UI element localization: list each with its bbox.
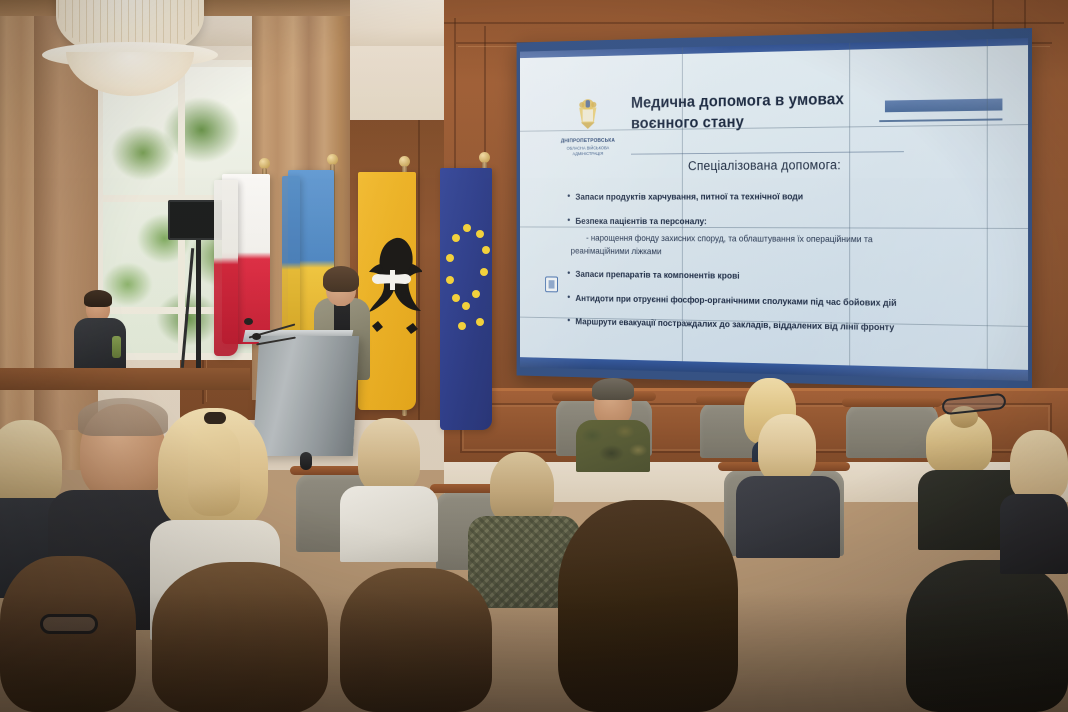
slide-top-bar <box>520 38 1028 58</box>
silesian-eagle-icon <box>366 230 422 360</box>
bullet-text: Запаси препаратів та компонентів крові <box>575 268 739 282</box>
podium <box>253 336 359 456</box>
info-badge-icon <box>545 276 558 292</box>
title-divider <box>631 151 904 154</box>
org-line-1: ДНІПРОПЕТРОВСЬКА <box>555 138 620 146</box>
organization-logo: ДНІПРОПЕТРОВСЬКА ОБЛАСНА ВІЙСЬКОВА АДМІН… <box>555 96 620 158</box>
bullet-text: Запаси продуктів харчування, питної та т… <box>575 191 803 203</box>
org-line-3: АДМІНІСТРАЦІЯ <box>555 151 620 158</box>
video-wall[interactable]: ДНІПРОПЕТРОВСЬКА ОБЛАСНА ВІЙСЬКОВА АДМІН… <box>517 28 1032 390</box>
translation-earpiece-icon <box>300 452 312 470</box>
slide-subtitle: Спеціалізована допомога: <box>520 156 1028 174</box>
list-item: • Запаси продуктів харчування, питної та… <box>552 190 1006 203</box>
bullet-marker: • <box>552 215 570 227</box>
panel-seam <box>849 43 850 376</box>
eu-stars-icon <box>442 176 492 426</box>
bullet-subtext: реанімаційними ліжками <box>552 245 1006 261</box>
water-bottle <box>112 336 121 358</box>
slide-title-line-2: воєнного стану <box>631 110 913 135</box>
slide-surface: ДНІПРОПЕТРОВСЬКА ОБЛАСНА ВІЙСЬКОВА АДМІН… <box>520 38 1028 381</box>
hair-tie <box>204 412 226 424</box>
conference-hall-photo: ДНІПРОПЕТРОВСЬКА ОБЛАСНА ВІЙСЬКОВА АДМІН… <box>0 0 1068 712</box>
slide-bullet-list: • Запаси продуктів харчування, питної та… <box>552 190 1006 349</box>
list-item: • Антидоти при отруєнні фосфор-органічни… <box>552 292 1006 311</box>
panel-seam <box>682 47 683 371</box>
bullet-marker: • <box>552 292 570 304</box>
coat-of-arms-icon <box>573 96 602 130</box>
bullet-text: Безпека пацієнтів та персоналу: <box>575 215 706 227</box>
microphone-head <box>252 333 261 340</box>
accent-rule <box>879 118 1002 122</box>
eyeglasses-icon <box>40 614 98 634</box>
microphone-head <box>244 318 253 325</box>
list-item: • Запаси препаратів та компонентів крові <box>552 268 1006 285</box>
panel-seam <box>987 39 988 380</box>
accent-bar <box>885 99 1002 113</box>
front-table <box>0 368 250 390</box>
bullet-marker: • <box>552 191 570 203</box>
